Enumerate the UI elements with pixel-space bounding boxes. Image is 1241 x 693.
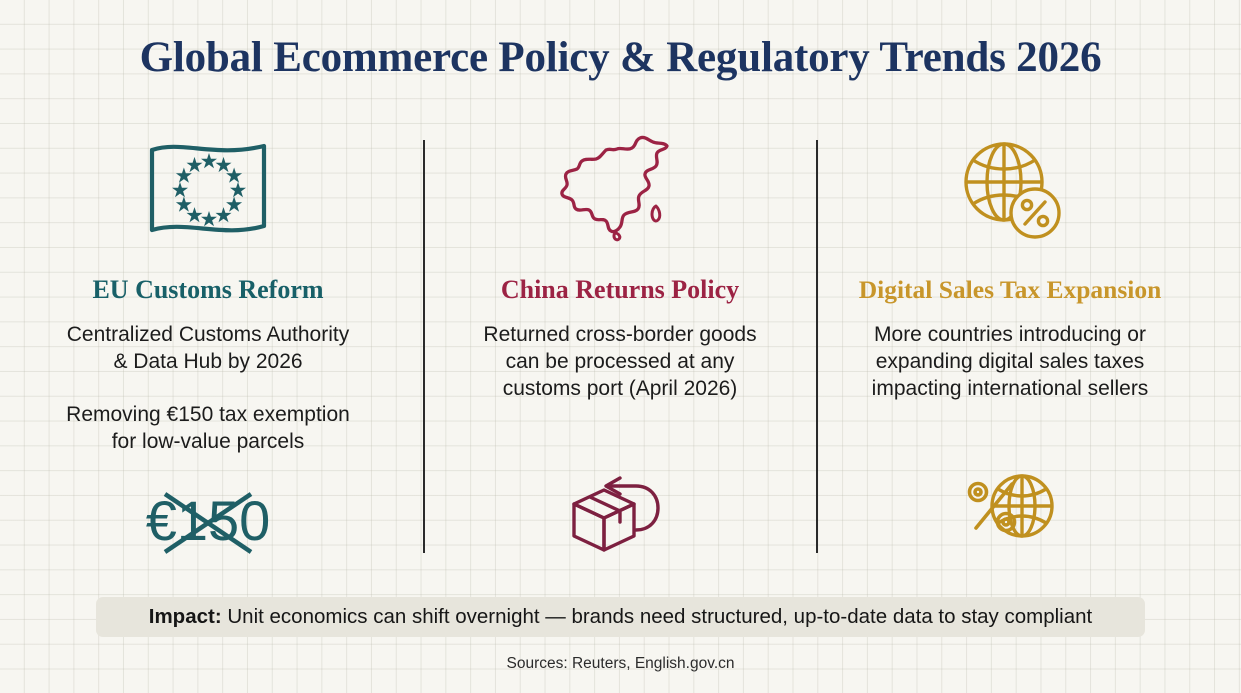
column-heading-eu: EU Customs Reform [32,275,384,305]
infographic-page: Global Ecommerce Policy & Regulatory Tre… [0,0,1241,693]
column-body-tax-1: More countries introducing orexpanding d… [834,321,1186,402]
impact-label: Impact: [149,605,222,628]
column-divider-2 [816,140,818,553]
globe-percent-icon [834,134,1186,246]
percent-globe-icon [834,464,1186,548]
impact-body: Unit economics can shift overnight — bra… [227,605,1092,628]
column-heading-china: China Returns Policy [444,275,796,305]
sources-line: Sources: Reuters, English.gov.cn [0,655,1241,673]
page-title: Global Ecommerce Policy & Regulatory Tre… [0,33,1241,82]
impact-text: Impact: Unit economics can shift overnig… [149,605,1092,629]
column-body-eu-1: Centralized Customs Authority& Data Hub … [32,321,384,375]
china-map-icon [444,134,796,246]
eu-flag-icon [32,134,384,246]
column-divider-1 [423,140,425,553]
column-china-returns-policy: China Returns Policy Returned cross-bord… [444,134,796,402]
column-heading-tax: Digital Sales Tax Expansion [834,275,1186,305]
return-parcel-icon [444,464,796,556]
column-eu-customs-reform: EU Customs Reform Centralized Customs Au… [32,134,384,455]
column-digital-sales-tax-expansion: Digital Sales Tax Expansion More countri… [834,134,1186,402]
column-body-china-1: Returned cross-border goodscan be proces… [444,321,796,402]
crossed-out-euro-150-icon: €150 [32,478,384,564]
column-body-eu-2: Removing €150 tax exemptionfor low-value… [32,401,384,455]
impact-banner: Impact: Unit economics can shift overnig… [96,597,1145,637]
